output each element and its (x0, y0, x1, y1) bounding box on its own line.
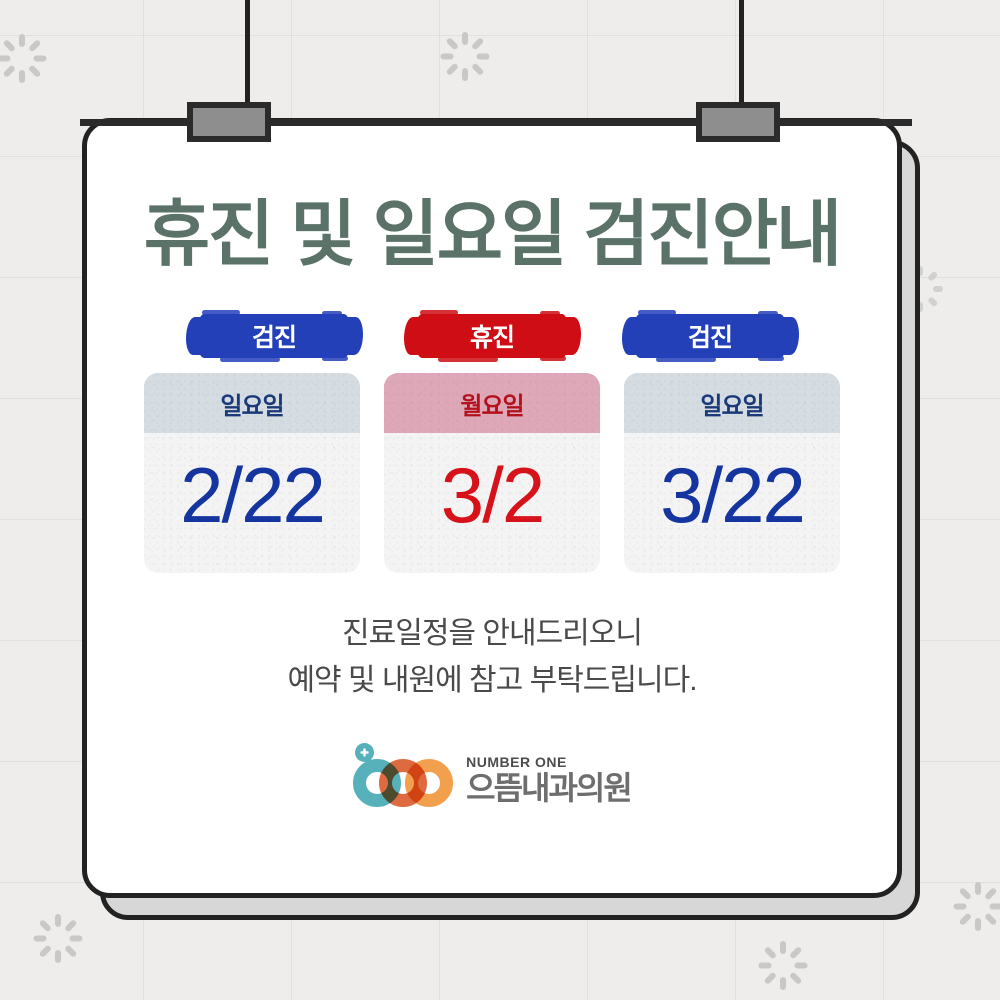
logo-clinic-name: 으뜸내과의원 (466, 772, 631, 804)
clinic-logo: NUMBER ONE 으뜸내과의원 (87, 751, 897, 807)
date-value: 3/2 (384, 433, 600, 573)
badge-label: 검진 (252, 318, 296, 354)
status-badge-checkup-2: 검진 (634, 314, 786, 358)
notice-line-2: 예약 및 내원에 참고 부탁드립니다. (87, 658, 897, 705)
badge-row: 검진 휴진 검진 (87, 314, 897, 358)
notice-text: 진료일정을 안내드리오니 예약 및 내원에 참고 부탁드립니다. (87, 611, 897, 704)
logo-text-block: NUMBER ONE 으뜸내과의원 (466, 755, 631, 807)
board-top-rail (777, 119, 912, 126)
weekday-label: 월요일 (384, 373, 600, 433)
sparkle-decoration-icon (437, 28, 493, 84)
brush-flick (438, 357, 498, 362)
badge-label: 검진 (688, 318, 732, 354)
date-card: 월요일 3/2 (384, 373, 600, 573)
board-top-rail (80, 119, 200, 126)
brush-flick (540, 356, 566, 361)
brush-flick (758, 356, 784, 361)
board-clamp (187, 102, 271, 142)
brush-flick (758, 311, 778, 316)
date-card: 일요일 2/22 (144, 373, 360, 573)
sparkle-decoration-icon (0, 30, 50, 86)
brush-flick (638, 310, 676, 315)
date-card: 일요일 3/22 (624, 373, 840, 573)
date-value: 3/22 (624, 433, 840, 573)
page-title: 휴진 및 일요일 검진안내 (87, 199, 897, 271)
logo-tagline: NUMBER ONE (466, 755, 631, 769)
date-card-row: 일요일 2/22 월요일 3/2 일요일 3/22 (87, 373, 897, 573)
brush-flick (322, 311, 342, 316)
brush-flick (540, 311, 560, 316)
hanging-cord (245, 0, 250, 112)
board-top-rail (268, 119, 698, 126)
logo-ring-orange-light-icon (405, 759, 453, 807)
brush-flick (322, 356, 348, 361)
brush-flick (420, 310, 458, 315)
hanging-cord (739, 0, 744, 112)
weekday-label: 일요일 (144, 373, 360, 433)
badge-label: 휴진 (470, 318, 514, 354)
sparkle-decoration-icon (950, 878, 1000, 934)
notice-line-1: 진료일정을 안내드리오니 (87, 611, 897, 658)
brush-flick (220, 357, 280, 362)
sparkle-decoration-icon (755, 937, 811, 993)
brush-flick (656, 357, 716, 362)
weekday-label: 일요일 (624, 373, 840, 433)
brush-flick (202, 310, 240, 315)
date-value: 2/22 (144, 433, 360, 573)
announcement-board: 휴진 및 일요일 검진안내 검진 휴진 검진 (82, 118, 902, 898)
status-badge-closed: 휴진 (416, 314, 568, 358)
status-badge-checkup-1: 검진 (198, 314, 350, 358)
board-clamp (696, 102, 780, 142)
logo-mark-icon (353, 751, 457, 807)
sparkle-decoration-icon (30, 910, 86, 966)
